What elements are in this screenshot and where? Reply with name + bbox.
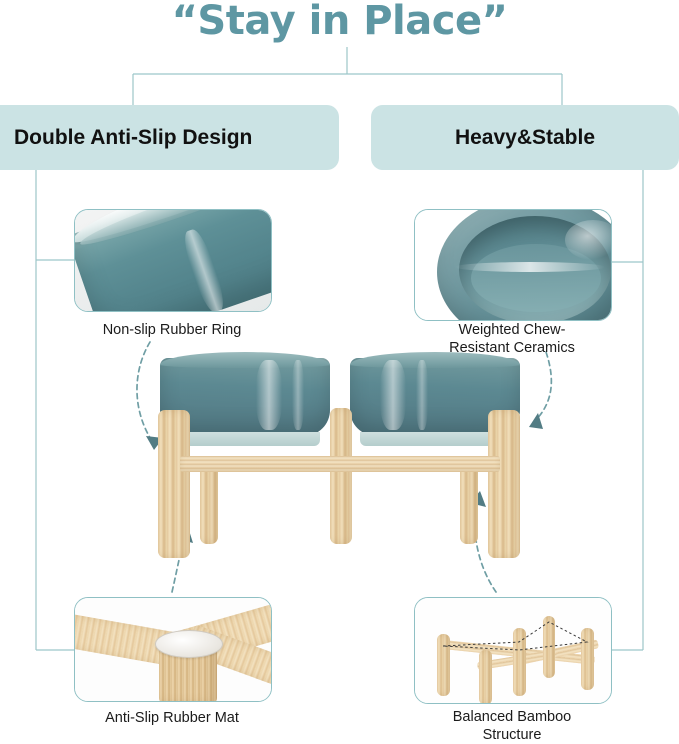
stand-leg-outer-right <box>488 410 520 558</box>
balance-triangle-overlay <box>443 622 587 650</box>
feature-image-balanced-bamboo-structure[interactable] <box>414 597 612 704</box>
hero-product-image <box>150 358 530 563</box>
feature-image-anti-slip-rubber-mat[interactable] <box>74 597 272 702</box>
feature-caption-anti-slip-rubber-mat: Anti-Slip Rubber Mat <box>54 710 290 728</box>
header-pill-anti-slip[interactable]: Double Anti-Slip Design <box>0 105 339 170</box>
header-pill-label: Heavy&Stable <box>455 126 595 150</box>
infographic-canvas: “Stay in Place” Double Anti- <box>0 0 679 742</box>
page-title: “Stay in Place” <box>0 0 679 44</box>
feature-image-weighted-ceramics[interactable] <box>414 209 612 321</box>
bowl-foot-left <box>170 432 320 446</box>
stand-centre-post <box>330 408 352 544</box>
header-pill-heavy-stable[interactable]: Heavy&Stable <box>371 105 679 170</box>
caption-line: Weighted Chew- <box>394 322 630 340</box>
header-pill-label: Double Anti-Slip Design <box>14 126 252 150</box>
feature-caption-balanced-bamboo-structure: Balanced Bamboo Structure <box>394 709 630 744</box>
bowl-interior-illustration <box>415 210 611 320</box>
caption-line: Anti-Slip Rubber Mat <box>54 710 290 728</box>
feature-image-non-slip-rubber-ring[interactable] <box>74 209 272 312</box>
caption-line: Balanced Bamboo <box>394 709 630 727</box>
stand-leg-outer-left <box>158 410 190 558</box>
bamboo-stand-balance-illustration <box>415 598 611 703</box>
bowl-rubber-ring-illustration <box>75 210 271 311</box>
feature-caption-non-slip-rubber-ring: Non-slip Rubber Ring <box>54 322 290 340</box>
caption-line: Non-slip Rubber Ring <box>54 322 290 340</box>
stand-top-rail <box>180 456 500 472</box>
caption-line: Structure <box>394 727 630 744</box>
bamboo-leg-rubber-pad-illustration <box>75 598 271 701</box>
